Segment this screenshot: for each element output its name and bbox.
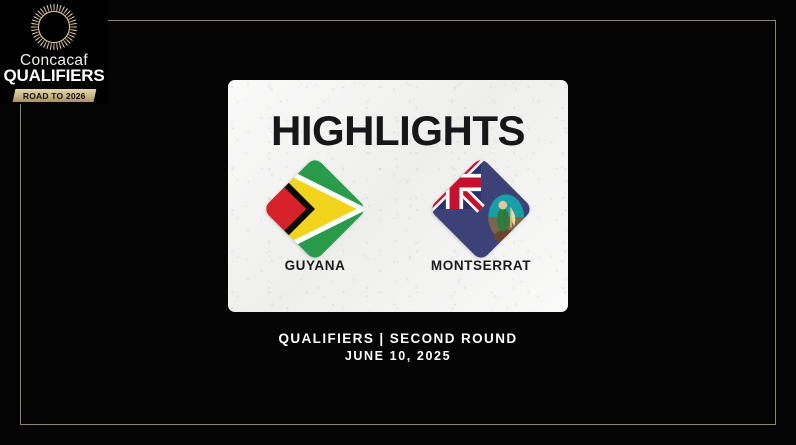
team-away: MONTSERRAT (429, 172, 533, 273)
brand-qualifiers-text: QUALIFIERS (0, 67, 108, 85)
guyana-flag-badge (263, 157, 368, 262)
montserrat-flag-icon (429, 157, 534, 262)
road-to-2026-badge: ROAD TO 2026 (12, 89, 95, 102)
matchup-row: GUYANA (228, 172, 568, 273)
concacaf-qualifiers-logo: Concacaf QUALIFIERS ROAD TO 2026 (0, 2, 108, 90)
team-home: GUYANA (263, 172, 367, 273)
caption-date: JUNE 10, 2025 (0, 348, 796, 365)
page-title: HIGHLIGHTS (228, 107, 568, 155)
broadcast-graphic-stage: Concacaf QUALIFIERS ROAD TO 2026 HIGHLIG… (0, 0, 796, 445)
concacaf-sunburst-ring-icon (29, 2, 79, 52)
caption-round: QUALIFIERS | SECOND ROUND (0, 330, 796, 348)
match-caption: QUALIFIERS | SECOND ROUND JUNE 10, 2025 (0, 330, 796, 365)
highlights-card: HIGHLIGHTS GUYANA (228, 80, 568, 312)
guyana-flag-icon (263, 157, 368, 262)
montserrat-flag-badge (429, 157, 534, 262)
road-to-2026-label: ROAD TO 2026 (23, 90, 86, 100)
